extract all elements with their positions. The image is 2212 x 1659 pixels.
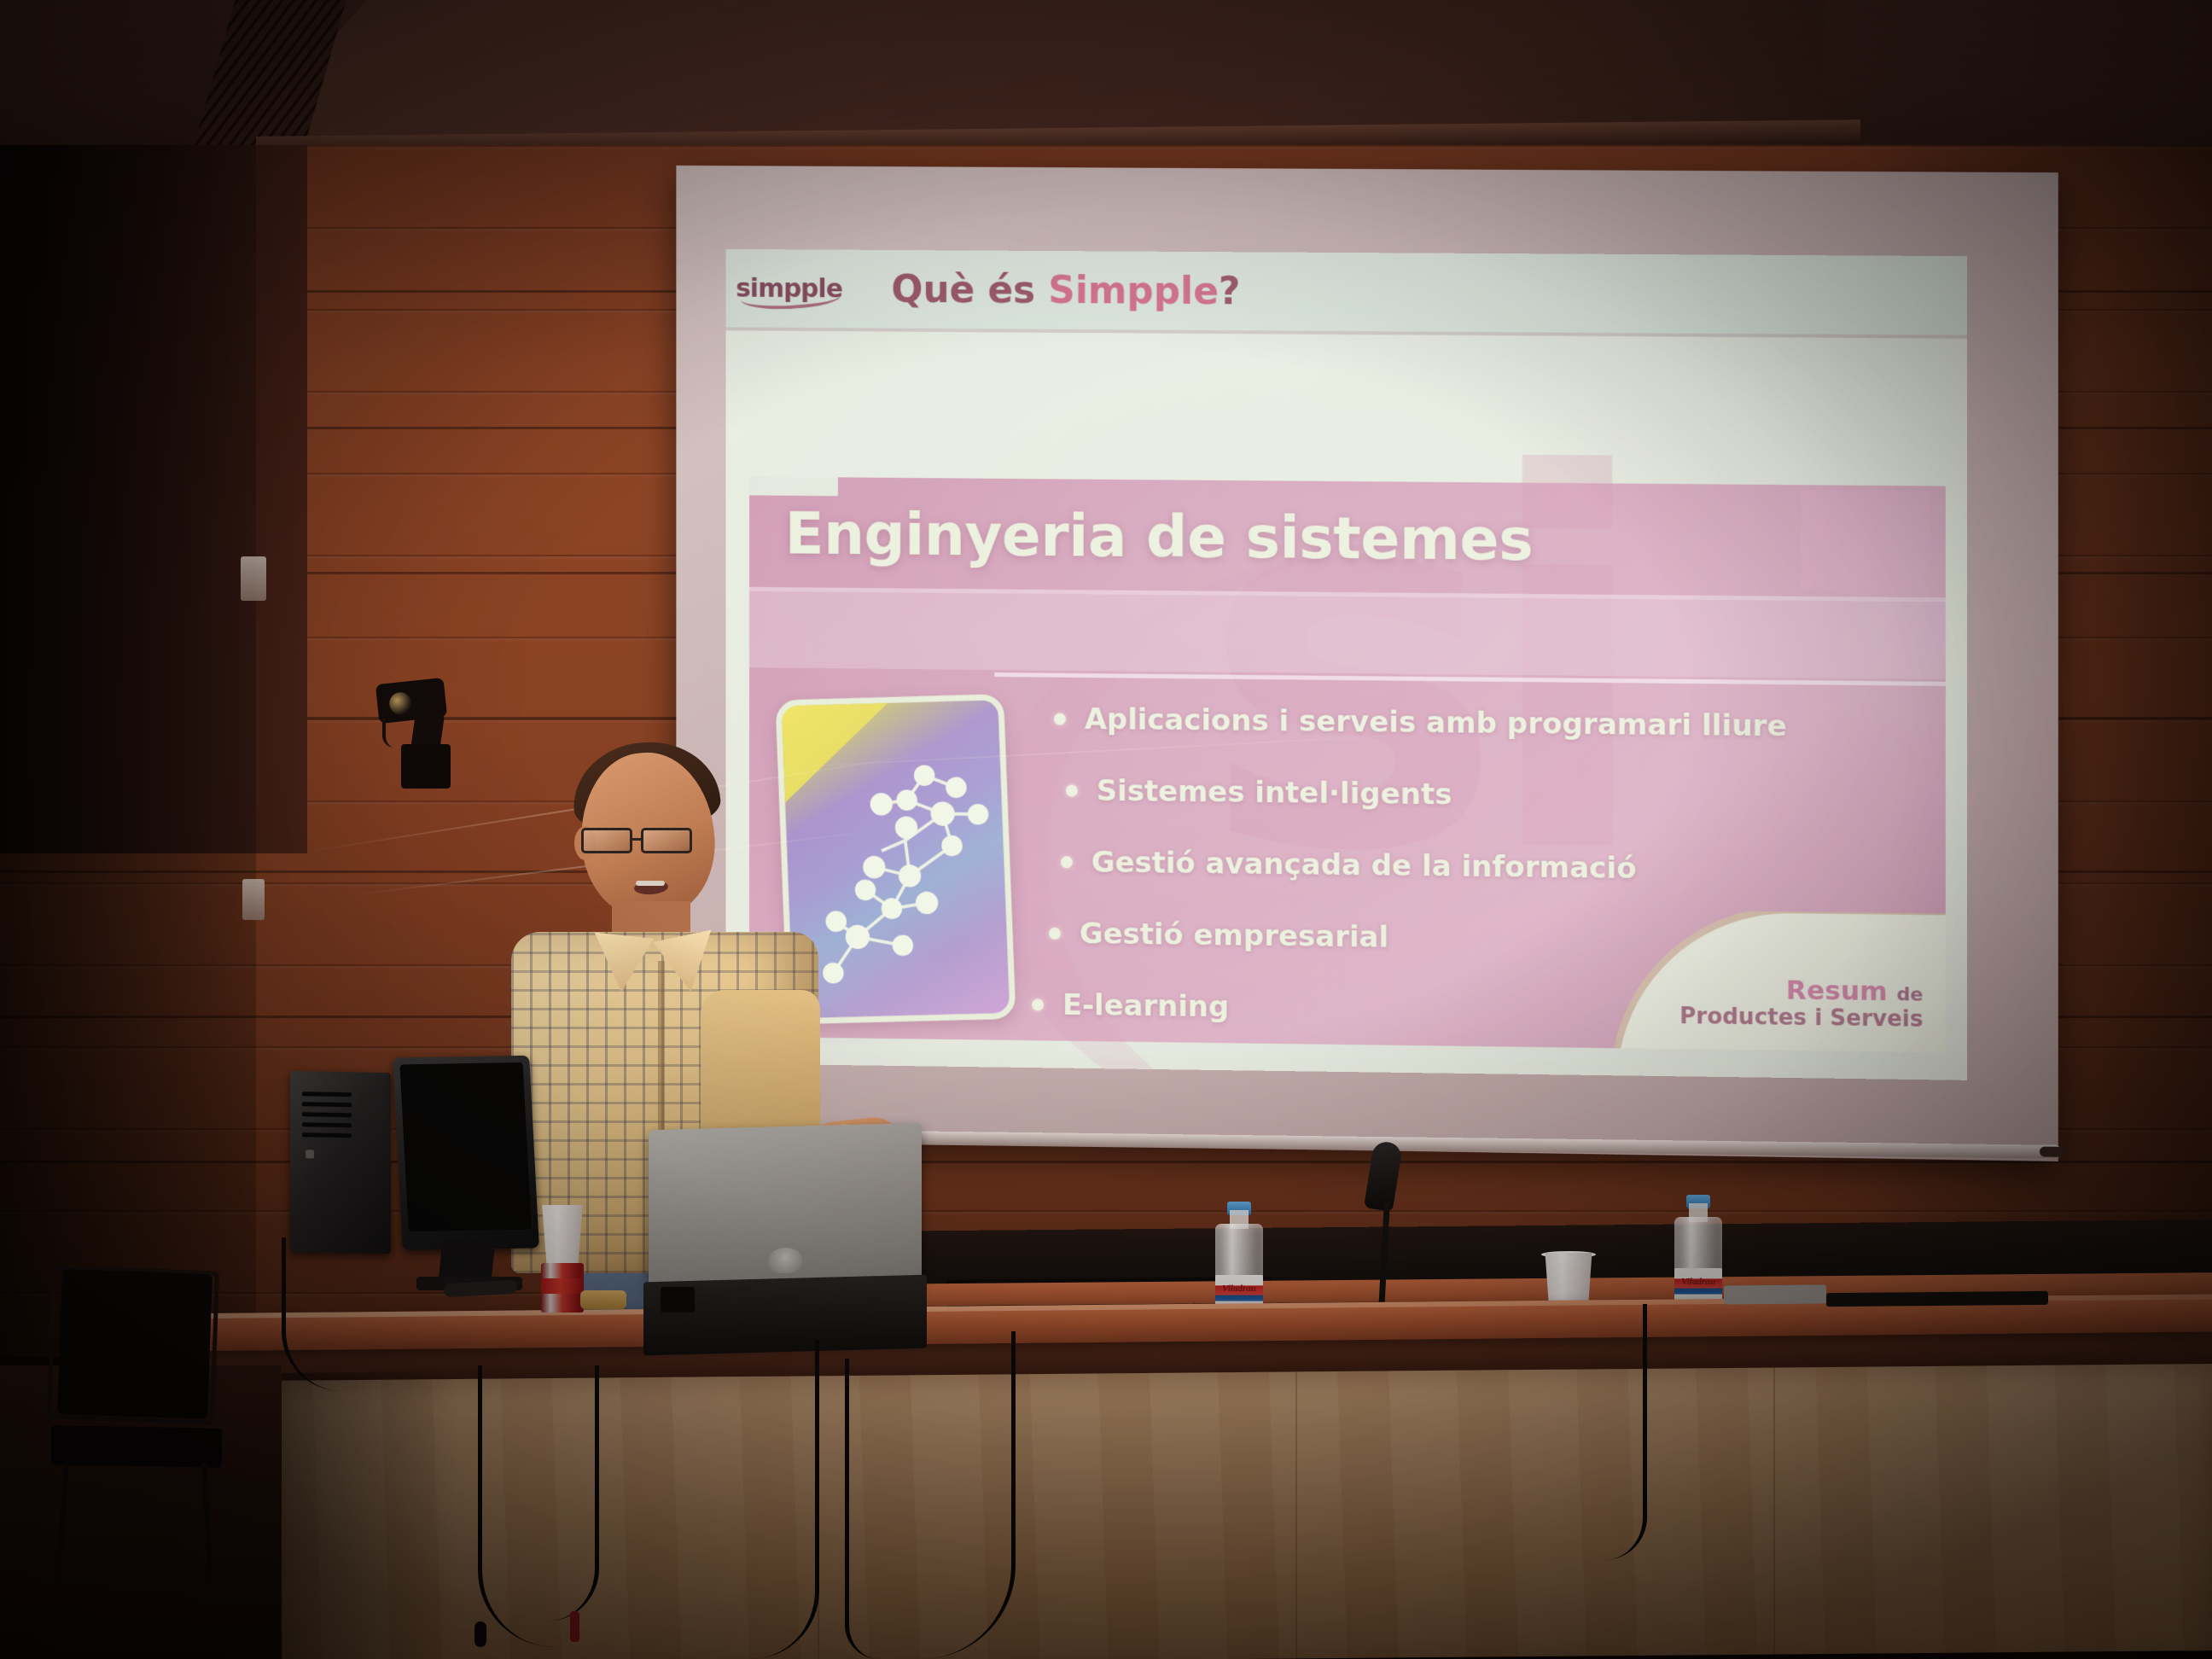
- hanging-cable: [845, 1359, 879, 1659]
- list-item: Sistemes intel·ligents: [1066, 774, 1918, 818]
- can-label: [541, 1278, 584, 1294]
- bullet-dot-icon: [1032, 998, 1044, 1010]
- desk-device: [1724, 1284, 1826, 1304]
- badge-line1-strong: Resum: [1786, 975, 1888, 1008]
- badge-line1-small: de: [1897, 984, 1924, 1006]
- slide-title-suffix: ?: [1219, 270, 1240, 313]
- simpple-logo-text: simpple: [736, 273, 842, 304]
- teeth: [636, 881, 665, 886]
- small-object: [580, 1290, 626, 1309]
- slide-content-panel: Enginyeria de sistemes: [749, 477, 1946, 1053]
- slide-header: simpple Què és Simpple?: [725, 249, 1967, 335]
- panel-light-band: [749, 591, 1946, 679]
- roller-end-cap: [2040, 1147, 2065, 1157]
- eyeglasses-icon: [581, 828, 718, 857]
- podium-shadow: [271, 1371, 459, 1659]
- bullet-text: E-learning: [1062, 988, 1229, 1024]
- hanging-cable: [922, 1331, 1016, 1659]
- wall-shadow-left: [0, 145, 256, 1357]
- badge-line2: Productes i Serveis: [1679, 1004, 1923, 1033]
- cable-connector: [474, 1621, 486, 1647]
- slide-title-prefix: Què és: [891, 267, 1048, 311]
- cola-can[interactable]: [539, 1205, 585, 1313]
- laptop[interactable]: [649, 1126, 930, 1348]
- list-item: Gestió avançada de la informació: [1061, 845, 1918, 889]
- chair[interactable]: [34, 1272, 256, 1528]
- presentation-slide: si simpple Què és Simpple? Enginyeria de…: [725, 249, 1967, 1080]
- crt-monitor[interactable]: [398, 1057, 534, 1249]
- computer-tower[interactable]: [290, 1071, 391, 1254]
- monitor-screen: [393, 1056, 539, 1250]
- panel-notch: [749, 477, 838, 497]
- badge-text: Resum de Productes i Serveis: [1679, 975, 1923, 1033]
- presentation-photo-scene: si simpple Què és Simpple? Enginyeria de…: [0, 0, 2212, 1659]
- laptop-hinge: [661, 1287, 695, 1313]
- wall-camera-icon: [369, 679, 471, 790]
- bullet-dot-icon: [1054, 713, 1066, 725]
- chair-back: [57, 1269, 212, 1419]
- lens-right: [641, 828, 692, 853]
- cable-run: [1826, 1291, 2048, 1307]
- bullet-text: Gestió avançada de la informació: [1091, 846, 1637, 886]
- hanging-cable: [751, 1340, 819, 1659]
- paper-cup-left: [539, 1205, 585, 1266]
- hanging-cable: [546, 1365, 599, 1621]
- projection-screen: si simpple Què és Simpple? Enginyeria de…: [671, 169, 2053, 1150]
- list-item: Aplicacions i serveis amb programari lli…: [1054, 702, 1918, 745]
- wall-speaker-box: [242, 879, 265, 920]
- cable-connector-red: [570, 1611, 579, 1642]
- hanging-cable: [478, 1365, 555, 1647]
- laptop-logo-icon: [768, 1247, 802, 1273]
- slide-title-brand: Simpple: [1048, 268, 1219, 312]
- bottle-brand-text: Viladrau: [1674, 1277, 1722, 1287]
- slide-title: Què és Simpple?: [891, 267, 1240, 312]
- power-led-icon: [306, 1150, 314, 1158]
- laptop-lid: [649, 1123, 922, 1292]
- simpple-logo: simpple: [725, 249, 852, 328]
- chair-seat: [51, 1425, 223, 1467]
- monitor-bezel: [399, 1062, 531, 1231]
- slide-footer-badge: Resum de Productes i Serveis: [1602, 910, 1946, 1053]
- bullet-text: Gestió empresarial: [1080, 917, 1388, 954]
- bullet-dot-icon: [1066, 784, 1078, 796]
- slide-heading: Enginyeria de sistemes: [785, 501, 1534, 574]
- panel-accent-block: [1801, 490, 1930, 591]
- bottle-brand-text: Viladrau: [1215, 1284, 1263, 1294]
- bullet-dot-icon: [1049, 928, 1061, 940]
- bullet-dot-icon: [1061, 856, 1073, 868]
- bullet-text: Sistemes intel·ligents: [1097, 774, 1452, 812]
- hanging-cable: [1604, 1304, 1647, 1560]
- wall-sensor-box: [241, 556, 266, 601]
- lens-left: [581, 828, 632, 853]
- bullet-text: Aplicacions i serveis amb programari lli…: [1085, 702, 1787, 743]
